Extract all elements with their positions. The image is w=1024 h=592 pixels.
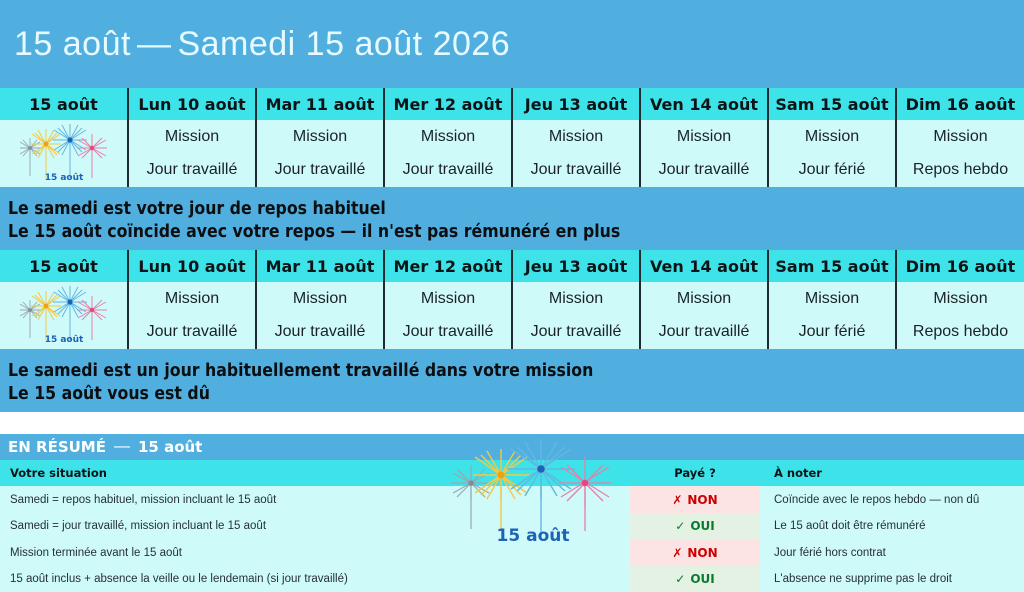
summary-row: Samedi = repos habituel, mission incluan… — [0, 486, 1024, 513]
caption-line-1: Le samedi est un jour habituellement tra… — [8, 360, 1016, 383]
week-mission-4: Mission — [512, 120, 640, 154]
fireworks-icon: 15 août — [12, 120, 116, 182]
week-col-header-3: Mer 12 août — [384, 88, 512, 120]
page-title-date: Samedi 15 août 2026 — [177, 25, 510, 63]
summary-col-note: À noter — [760, 460, 1024, 486]
table-row: 15 août Mission Mission Mission Mission … — [0, 120, 1024, 154]
summary-paye-1: ✓OUI — [630, 513, 760, 540]
table-row: 15 août Mission Mission Mission Mission … — [0, 282, 1024, 316]
cross-icon: ✗ — [672, 546, 682, 560]
summary-note-3: L'absence ne supprime pas le droit — [760, 566, 1024, 592]
summary-note-1: Le 15 août doit être rémunéré — [760, 513, 1024, 540]
scenario-caption-1: Le samedi est votre jour de repos habitu… — [0, 193, 1024, 250]
summary-paye-value-0: NON — [687, 493, 717, 507]
fireworks-core-2 — [43, 304, 48, 309]
week2-col-header-6: Sam 15 août — [768, 250, 896, 282]
week-mission-1: Mission — [128, 120, 256, 154]
week-status-1: Jour travaillé — [128, 154, 256, 188]
week2-mission-7: Mission — [896, 282, 1024, 316]
summary-row: Mission terminée avant le 15 août ✗NON J… — [0, 539, 1024, 566]
summary-situation-0: Samedi = repos habituel, mission incluan… — [0, 486, 630, 513]
summary-header-row: Votre situation Payé ? À noter — [0, 460, 1024, 486]
week2-status-3: Jour travaillé — [384, 316, 512, 350]
week-status-2: Jour travaillé — [256, 154, 384, 188]
summary-paye-value-3: OUI — [690, 572, 714, 586]
summary-col-situation: Votre situation — [0, 460, 630, 486]
week2-col-header-2: Mar 11 août — [256, 250, 384, 282]
week-mission-2: Mission — [256, 120, 384, 154]
cross-icon: ✗ — [672, 493, 682, 507]
caption-line-1: Le samedi est votre jour de repos habitu… — [8, 198, 1016, 221]
summary-title-dash: — — [106, 438, 138, 456]
scenario-caption-2: Le samedi est un jour habituellement tra… — [0, 355, 1024, 412]
week2-status-6: Jour férié — [768, 316, 896, 350]
fireworks-icon: 15 août — [12, 282, 116, 344]
week-mission-3: Mission — [384, 120, 512, 154]
week-status-4: Jour travaillé — [512, 154, 640, 188]
summary-paye-value-1: OUI — [690, 519, 714, 533]
summary-paye-0: ✗NON — [630, 486, 760, 513]
fireworks-caption: 15 août — [44, 335, 83, 344]
summary-row: Samedi = jour travaillé, mission incluan… — [0, 513, 1024, 540]
week2-col-header-4: Jeu 13 août — [512, 250, 640, 282]
summary-situation-2: Mission terminée avant le 15 août — [0, 539, 630, 566]
fireworks-core-3 — [67, 300, 72, 305]
scenario-block-2: 15 août Lun 10 août Mar 11 août Mer 12 a… — [0, 250, 1024, 412]
fireworks-core-3 — [67, 137, 72, 142]
scenario-block-1: 15 août Lun 10 août Mar 11 août Mer 12 a… — [0, 88, 1024, 250]
summary-table: Votre situation Payé ? À noter Samedi = … — [0, 460, 1024, 592]
week-col-header-6: Sam 15 août — [768, 88, 896, 120]
week-table-2: 15 août Lun 10 août Mar 11 août Mer 12 a… — [0, 250, 1024, 349]
table-row: Jour travaillé Jour travaillé Jour trava… — [0, 316, 1024, 350]
week2-status-4: Jour travaillé — [512, 316, 640, 350]
week-mission-6: Mission — [768, 120, 896, 154]
fireworks-cell: 15 août — [0, 282, 128, 349]
summary-title: EN RÉSUMÉ — [8, 438, 106, 456]
check-icon: ✓ — [675, 519, 685, 533]
fireworks-caption: 15 août — [44, 173, 83, 182]
check-icon: ✓ — [675, 572, 685, 586]
fireworks-core-4 — [89, 146, 93, 150]
summary-row: 15 août inclus + absence la veille ou le… — [0, 566, 1024, 592]
week-status-7: Repos hebdo — [896, 154, 1024, 188]
fireworks-core-1 — [28, 308, 32, 312]
week-status-6: Jour férié — [768, 154, 896, 188]
week2-mission-6: Mission — [768, 282, 896, 316]
summary-paye-2: ✗NON — [630, 539, 760, 566]
week-status-3: Jour travaillé — [384, 154, 512, 188]
week2-status-2: Jour travaillé — [256, 316, 384, 350]
summary-paye-3: ✓OUI — [630, 566, 760, 592]
week2-mission-2: Mission — [256, 282, 384, 316]
page-title: 15 août—Samedi 15 août 2026 — [14, 25, 510, 64]
week2-status-7: Repos hebdo — [896, 316, 1024, 350]
summary-situation-1: Samedi = jour travaillé, mission incluan… — [0, 513, 630, 540]
summary-title-suffix: 15 août — [138, 438, 202, 456]
week-col-header-0: 15 août — [0, 88, 128, 120]
page-title-banner: 15 août—Samedi 15 août 2026 — [0, 0, 1024, 88]
week-col-header-5: Ven 14 août — [640, 88, 768, 120]
fireworks-core-4 — [89, 308, 93, 312]
summary-col-paye: Payé ? — [630, 460, 760, 486]
page-title-dash: — — [131, 25, 178, 63]
week2-mission-1: Mission — [128, 282, 256, 316]
week2-status-1: Jour travaillé — [128, 316, 256, 350]
week2-col-header-7: Dim 16 août — [896, 250, 1024, 282]
week-table-1: 15 août Lun 10 août Mar 11 août Mer 12 a… — [0, 88, 1024, 187]
section-gap — [0, 412, 1024, 434]
week-mission-5: Mission — [640, 120, 768, 154]
table-row: Jour travaillé Jour travaillé Jour trava… — [0, 154, 1024, 188]
fireworks-core-1 — [28, 146, 32, 150]
summary-header-bar: EN RÉSUMÉ — 15 août — [0, 434, 1024, 460]
week-col-header-7: Dim 16 août — [896, 88, 1024, 120]
fireworks-core-2 — [43, 142, 48, 147]
week-status-5: Jour travaillé — [640, 154, 768, 188]
page-root: 15 août—Samedi 15 août 2026 15 août Lun … — [0, 0, 1024, 575]
week2-status-5: Jour travaillé — [640, 316, 768, 350]
week2-mission-3: Mission — [384, 282, 512, 316]
summary-note-2: Jour férié hors contrat — [760, 539, 1024, 566]
page-title-day: 15 août — [14, 25, 131, 63]
caption-line-2: Le 15 août vous est dû — [8, 383, 1016, 406]
table-header-row: 15 août Lun 10 août Mar 11 août Mer 12 a… — [0, 88, 1024, 120]
week2-mission-4: Mission — [512, 282, 640, 316]
summary-section: EN RÉSUMÉ — 15 août Votre situation Payé… — [0, 434, 1024, 592]
summary-paye-value-2: NON — [687, 546, 717, 560]
week-col-header-2: Mar 11 août — [256, 88, 384, 120]
week2-mission-5: Mission — [640, 282, 768, 316]
week2-col-header-3: Mer 12 août — [384, 250, 512, 282]
week2-col-header-0: 15 août — [0, 250, 128, 282]
fireworks-cell: 15 août — [0, 120, 128, 187]
week2-col-header-5: Ven 14 août — [640, 250, 768, 282]
week-col-header-1: Lun 10 août — [128, 88, 256, 120]
summary-note-0: Coïncide avec le repos hebdo — non dû — [760, 486, 1024, 513]
week-col-header-4: Jeu 13 août — [512, 88, 640, 120]
table-header-row: 15 août Lun 10 août Mar 11 août Mer 12 a… — [0, 250, 1024, 282]
summary-situation-3: 15 août inclus + absence la veille ou le… — [0, 566, 630, 592]
week-mission-7: Mission — [896, 120, 1024, 154]
week2-col-header-1: Lun 10 août — [128, 250, 256, 282]
caption-line-2: Le 15 août coïncide avec votre repos — i… — [8, 221, 1016, 244]
